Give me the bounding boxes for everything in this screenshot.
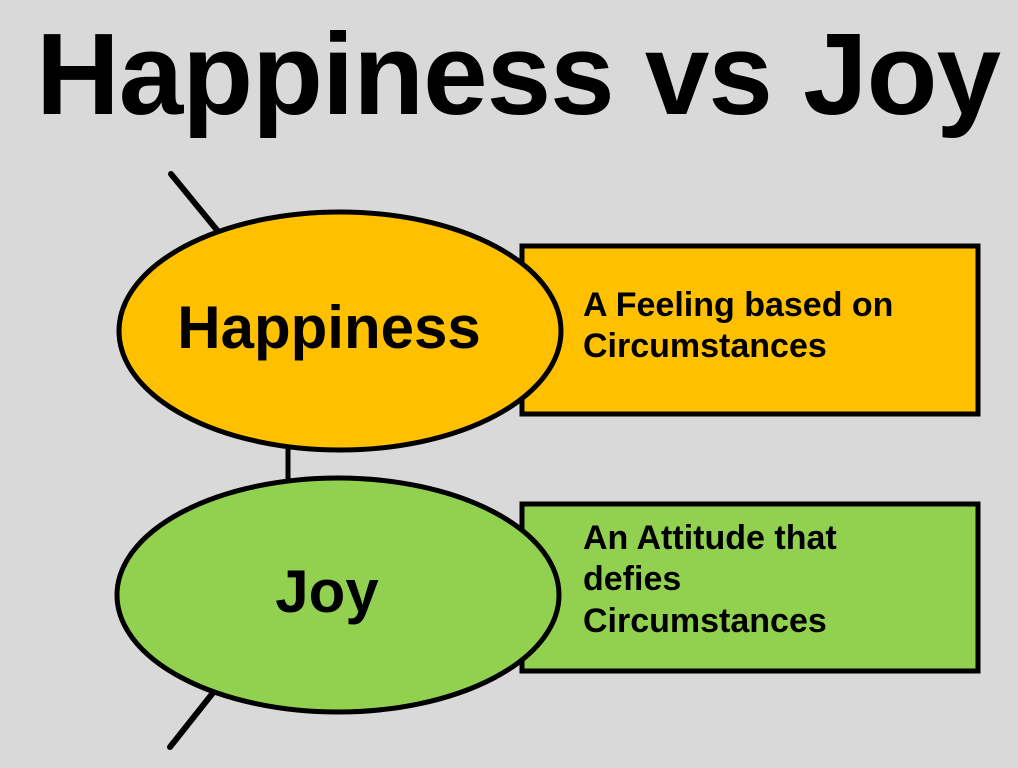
bottom-diagonal-line bbox=[170, 689, 216, 747]
joy-description: An Attitude that defies Circumstances bbox=[583, 518, 913, 642]
joy-description-line: Circumstances bbox=[583, 601, 913, 642]
happiness-label: Happiness bbox=[119, 296, 539, 359]
joy-description-line: defies bbox=[583, 559, 913, 600]
page-title: Happiness vs Joy bbox=[36, 16, 996, 132]
joy-label: Joy bbox=[117, 560, 537, 623]
happiness-description-line: A Feeling based on bbox=[583, 285, 963, 326]
top-diagonal-line bbox=[171, 174, 221, 235]
happiness-description: A Feeling based on Circumstances bbox=[583, 285, 963, 368]
diagram-canvas: Happiness vs Joy Happiness Joy A Feeling… bbox=[0, 0, 1018, 768]
joy-description-line: An Attitude that bbox=[583, 518, 913, 559]
happiness-description-line: Circumstances bbox=[583, 326, 963, 367]
